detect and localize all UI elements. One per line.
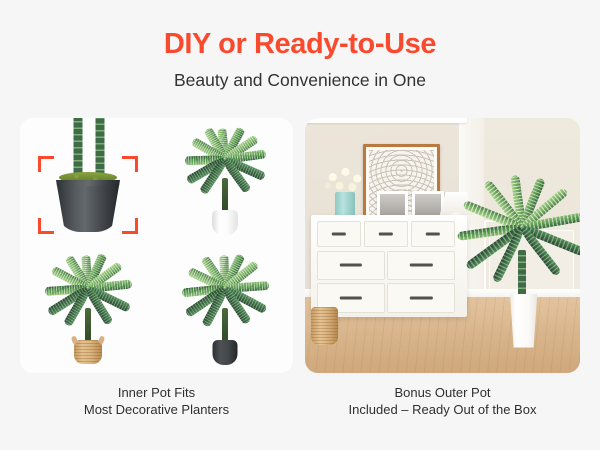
drawer-handle-icon xyxy=(339,297,361,300)
drawer-handle-icon xyxy=(410,297,432,300)
caption-line-2: Included – Ready Out of the Box xyxy=(305,401,580,418)
drawer-handle-icon xyxy=(426,233,440,236)
lifestyle-room-scene xyxy=(305,118,580,373)
room-palm-plant xyxy=(457,184,580,302)
header: DIY or Ready-to-Use Beauty and Convenien… xyxy=(0,0,600,91)
palm-trunk xyxy=(222,308,228,344)
drawer-handle-icon xyxy=(410,264,432,267)
panel-diy-inner-pot xyxy=(20,118,293,373)
palm-trunk xyxy=(85,308,91,344)
thumb-stage xyxy=(20,246,156,373)
bracket-top-left-icon xyxy=(38,156,54,172)
drawer-handle-icon xyxy=(339,264,361,267)
palm-trunk xyxy=(222,178,228,212)
caption-line-1: Inner Pot Fits xyxy=(20,384,293,401)
bracket-top-right-icon xyxy=(122,156,138,172)
palm-trunk xyxy=(518,250,526,300)
palm-canopy xyxy=(175,124,275,186)
palm-trunk-b xyxy=(96,118,105,178)
product-thumb-charcoal-pot xyxy=(157,246,293,373)
dresser-drawer xyxy=(317,221,361,247)
palm-plant xyxy=(170,252,280,344)
caption-outer-pot: Bonus Outer Pot Included – Ready Out of … xyxy=(305,384,580,418)
palm-canopy xyxy=(33,252,143,316)
dresser-drawer xyxy=(364,221,408,247)
drawer-handle-icon xyxy=(332,233,346,236)
dresser-drawer xyxy=(387,251,455,281)
product-thumb-black-nursery-pot xyxy=(20,118,156,245)
product-thumb-woven-basket xyxy=(20,246,156,373)
woven-basket-planter xyxy=(74,340,102,364)
palm-plant xyxy=(175,124,275,216)
dresser-drawer xyxy=(411,221,455,247)
bracket-bottom-right-icon xyxy=(122,218,138,234)
palm-trunk-a xyxy=(74,118,83,178)
white-dresser xyxy=(311,215,468,317)
caption-line-1: Bonus Outer Pot xyxy=(305,384,580,401)
product-feature-page: DIY or Ready-to-Use Beauty and Convenien… xyxy=(0,0,600,450)
thumb-stage xyxy=(157,246,293,373)
bracket-bottom-left-icon xyxy=(38,218,54,234)
thumb-stage xyxy=(157,118,293,245)
dresser-drawer xyxy=(317,251,385,281)
caption-inner-pot: Inner Pot Fits Most Decorative Planters xyxy=(20,384,293,418)
palm-plant xyxy=(33,252,143,344)
black-nursery-pot xyxy=(56,180,120,232)
dresser-drawer xyxy=(387,283,455,313)
page-subtitle: Beauty and Convenience in One xyxy=(0,61,600,91)
charcoal-ceramic-pot xyxy=(213,340,238,365)
product-thumb-white-ceramic-pot xyxy=(157,118,293,245)
caption-line-2: Most Decorative Planters xyxy=(20,401,293,418)
product-thumbnail-grid xyxy=(20,118,293,373)
drawer-handle-icon xyxy=(379,233,393,236)
woven-floor-basket xyxy=(311,307,339,345)
white-ceramic-pot xyxy=(212,210,238,235)
page-title: DIY or Ready-to-Use xyxy=(0,0,600,61)
panel-bonus-outer-pot xyxy=(305,118,580,373)
dresser-top-surface xyxy=(305,118,467,123)
thumb-stage xyxy=(20,118,156,245)
palm-canopy xyxy=(170,252,280,316)
